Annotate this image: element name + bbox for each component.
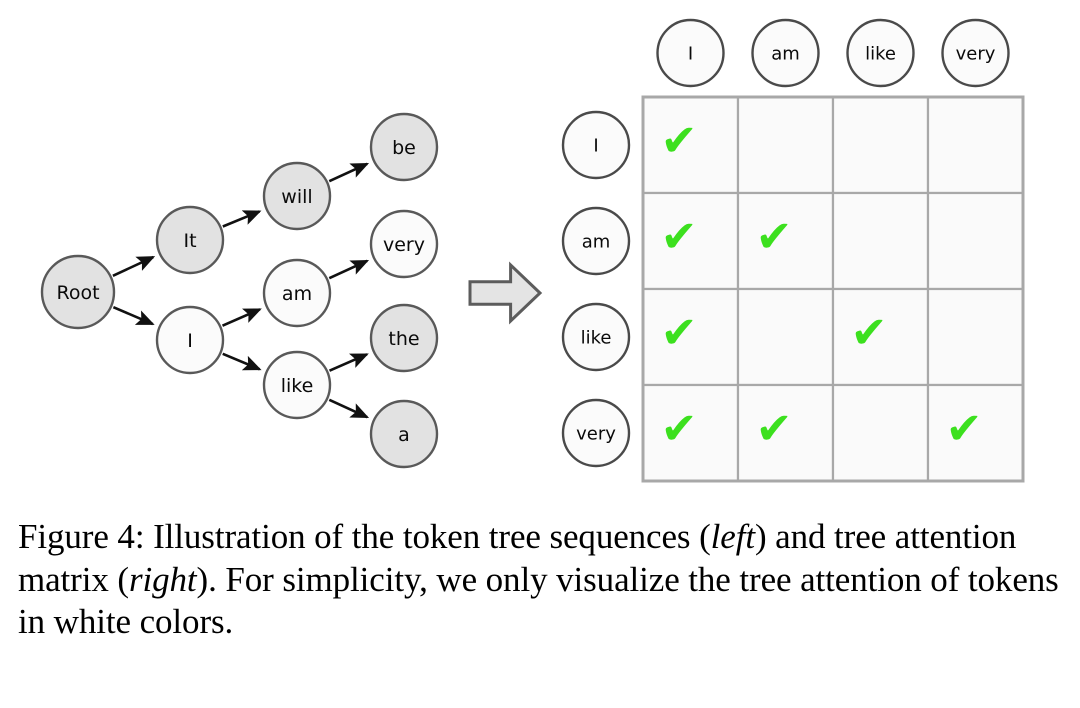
matrix-column-header-label-am: am <box>771 44 800 65</box>
matrix-cell-r2-c1[interactable] <box>738 289 833 385</box>
matrix-row-header-like[interactable]: like <box>563 304 629 370</box>
caption-emphasis-right: right <box>129 560 197 599</box>
matrix-cell-r2-c3[interactable] <box>928 289 1023 385</box>
figure-caption: Figure 4: Illustration of the token tree… <box>18 516 1066 644</box>
diagram-area: RootItIwillamlikebeverythea ✔✔✔✔✔✔✔✔ Iam… <box>0 0 1080 500</box>
check-icon-r3-c1: ✔ <box>756 404 793 455</box>
check-icon-r2-c2: ✔ <box>851 308 888 359</box>
matrix-row-header-label-like: like <box>581 328 612 349</box>
matrix-cell-r0-c3[interactable] <box>928 97 1023 193</box>
check-icon-r2-c0: ✔ <box>661 308 698 359</box>
matrix-cell-r1-c3[interactable] <box>928 193 1023 289</box>
matrix-column-header-label-like: like <box>865 44 896 65</box>
matrix-column-header-label-very: very <box>956 44 996 65</box>
matrix-cell-r0-c2[interactable] <box>833 97 928 193</box>
matrix-row-header-label-am: am <box>582 232 611 253</box>
matrix-row-header-very[interactable]: very <box>563 400 629 466</box>
matrix-cell-r0-c1[interactable] <box>738 97 833 193</box>
matrix-cell-r1-c2[interactable] <box>833 193 928 289</box>
tree-attention-matrix: ✔✔✔✔✔✔✔✔ Iamlikevery Iamlikevery <box>0 0 1080 500</box>
matrix-row-header-group: Iamlikevery <box>563 112 629 466</box>
matrix-cell-r3-c2[interactable] <box>833 385 928 481</box>
check-icon-r3-c3: ✔ <box>946 404 983 455</box>
check-icon-r3-c0: ✔ <box>661 404 698 455</box>
caption-emphasis-left: left <box>711 517 755 556</box>
caption-part-prefix: Figure 4: Illustration of the token tree… <box>18 517 711 556</box>
matrix-column-header-am[interactable]: am <box>753 20 819 86</box>
matrix-column-header-label-I: I <box>688 44 693 65</box>
figure-4-container: RootItIwillamlikebeverythea ✔✔✔✔✔✔✔✔ Iam… <box>0 0 1080 708</box>
matrix-column-header-group: Iamlikevery <box>658 20 1009 86</box>
matrix-row-header-I[interactable]: I <box>563 112 629 178</box>
matrix-row-header-am[interactable]: am <box>563 208 629 274</box>
matrix-column-header-I[interactable]: I <box>658 20 724 86</box>
matrix-column-header-very[interactable]: very <box>943 20 1009 86</box>
matrix-column-header-like[interactable]: like <box>848 20 914 86</box>
check-icon-r1-c1: ✔ <box>756 212 793 263</box>
matrix-row-header-label-I: I <box>593 136 598 157</box>
check-icon-r0-c0: ✔ <box>661 116 698 167</box>
check-icon-r1-c0: ✔ <box>661 212 698 263</box>
matrix-row-header-label-very: very <box>576 424 616 445</box>
